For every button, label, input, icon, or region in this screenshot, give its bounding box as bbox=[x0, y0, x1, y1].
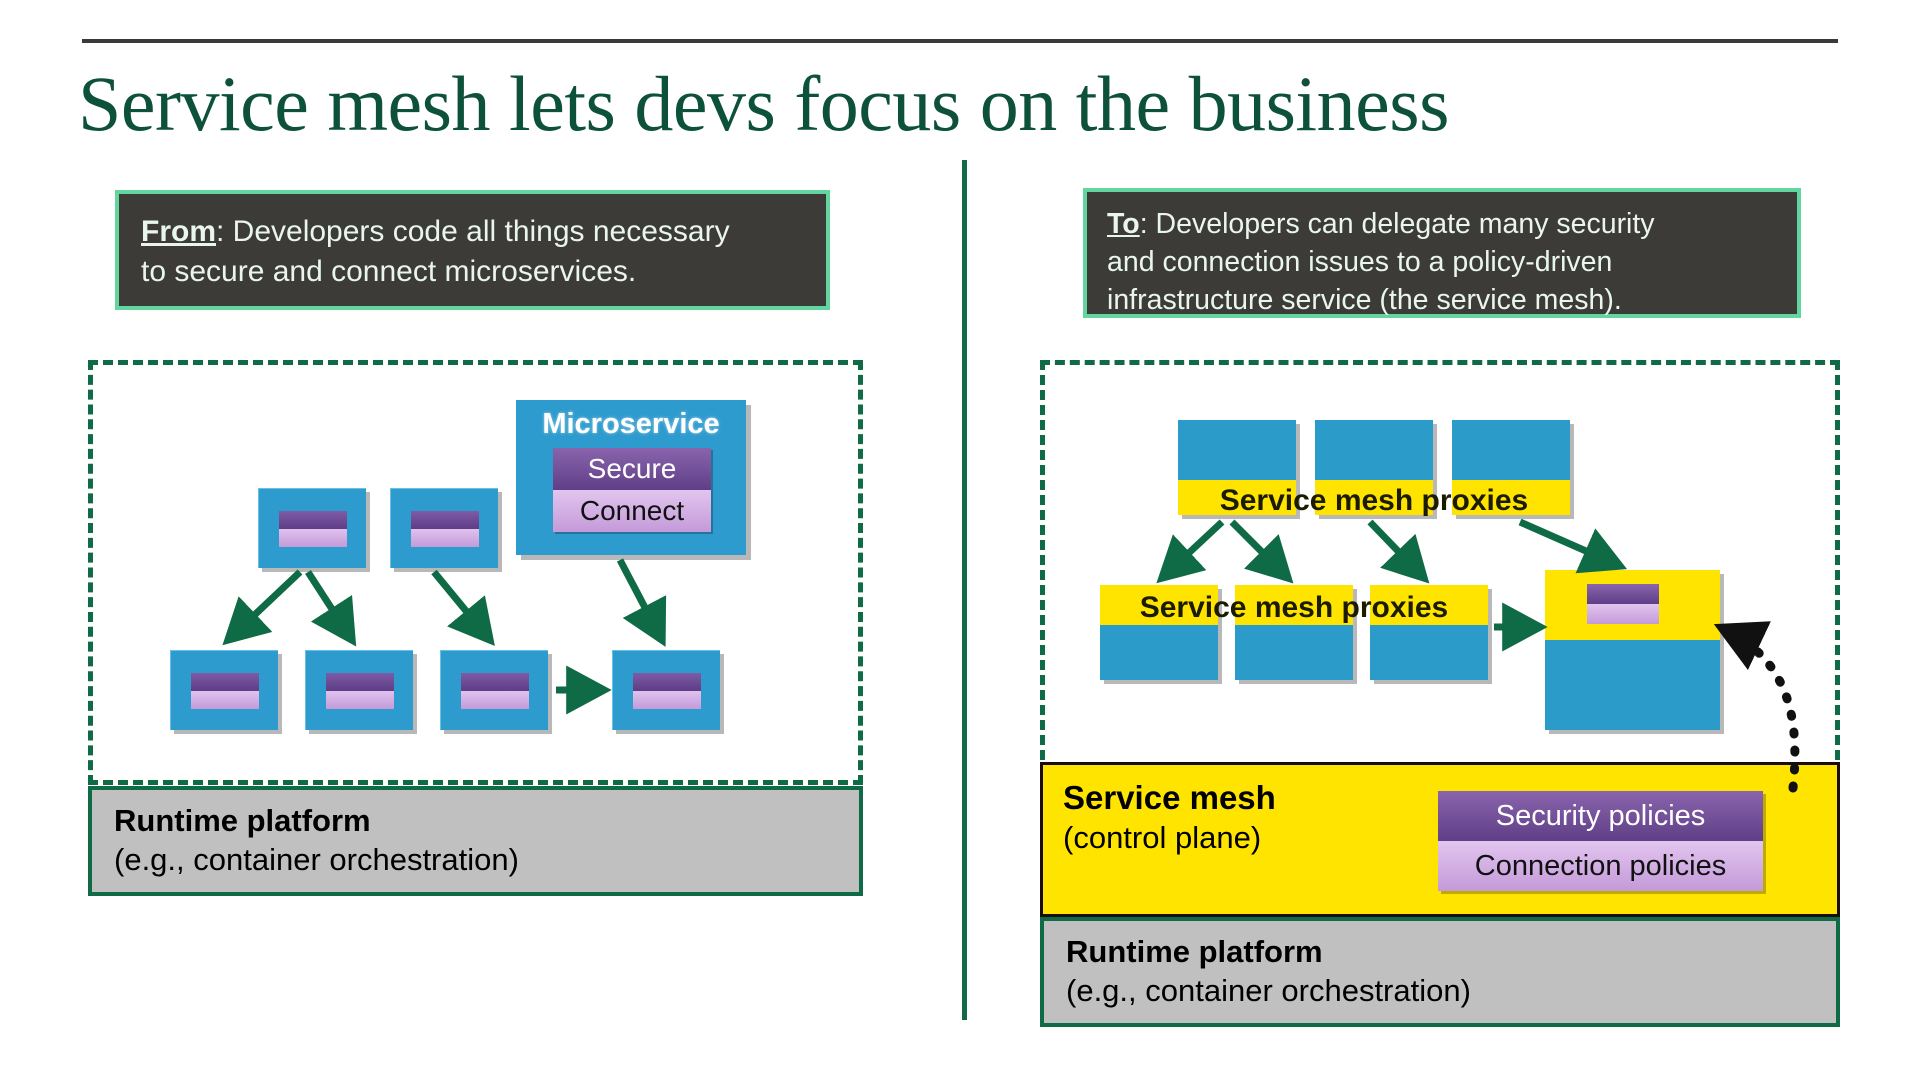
service-block bbox=[1452, 420, 1570, 480]
caption-to-lead: To bbox=[1107, 208, 1140, 240]
right-boundary-panel bbox=[1040, 360, 1840, 775]
microservice-box: Microservice Secure Connect bbox=[516, 400, 746, 555]
service-node bbox=[258, 488, 366, 568]
connection-policies-block: Connection policies bbox=[1438, 841, 1763, 891]
service-block bbox=[1315, 420, 1433, 480]
secure-bar-icon bbox=[326, 673, 394, 691]
runtime-right-title: Runtime platform bbox=[1066, 933, 1836, 971]
microservice-connect-block: Connect bbox=[553, 490, 711, 532]
service-node bbox=[170, 650, 278, 730]
connect-bar-icon bbox=[1587, 604, 1659, 624]
service-node bbox=[440, 650, 548, 730]
connect-bar-icon bbox=[461, 691, 529, 709]
service-mesh-title: Service mesh bbox=[1063, 779, 1276, 817]
runtime-left-title: Runtime platform bbox=[114, 802, 859, 840]
slide-canvas: Service mesh lets devs focus on the busi… bbox=[0, 0, 1920, 1080]
service-node bbox=[390, 488, 498, 568]
caption-to-line-2: and connection issues to a policy-driven bbox=[1107, 243, 1797, 281]
caption-to-text-1: : Developers can delegate many security bbox=[1140, 208, 1655, 240]
caption-from-text-1: : Developers code all things necessary bbox=[216, 215, 730, 248]
service-mesh-control-plane: Service mesh (control plane) Security po… bbox=[1040, 762, 1840, 917]
runtime-right-subtitle: (e.g., container orchestration) bbox=[1066, 971, 1836, 1011]
service-block bbox=[1370, 625, 1488, 680]
security-policies-block: Security policies bbox=[1438, 791, 1763, 841]
connect-bar-icon bbox=[326, 691, 394, 709]
connect-bar-icon bbox=[633, 691, 701, 709]
service-block bbox=[1235, 625, 1353, 680]
secure-bar-icon bbox=[411, 511, 479, 529]
secure-bar-icon bbox=[279, 511, 347, 529]
caption-from-line-1: From: Developers code all things necessa… bbox=[141, 212, 826, 252]
secure-bar-icon bbox=[633, 673, 701, 691]
microservice-title: Microservice bbox=[516, 408, 746, 441]
header-rule bbox=[82, 39, 1838, 43]
proxies-top-label: Service mesh proxies bbox=[1178, 484, 1570, 518]
proxies-bottom-label: Service mesh proxies bbox=[1100, 591, 1488, 625]
caption-to: To: Developers can delegate many securit… bbox=[1083, 188, 1801, 318]
caption-to-line-1: To: Developers can delegate many securit… bbox=[1107, 205, 1797, 243]
service-block bbox=[1545, 640, 1720, 730]
service-block bbox=[1178, 420, 1296, 480]
page-title: Service mesh lets devs focus on the busi… bbox=[78, 62, 1778, 146]
column-divider bbox=[962, 160, 967, 1020]
connect-bar-icon bbox=[279, 529, 347, 547]
service-mesh-subtitle: (control plane) bbox=[1063, 819, 1261, 857]
connect-bar-icon bbox=[191, 691, 259, 709]
secure-bar-icon bbox=[1587, 584, 1659, 604]
service-node bbox=[612, 650, 720, 730]
secure-bar-icon bbox=[461, 673, 529, 691]
service-block bbox=[1100, 625, 1218, 680]
target-service-node bbox=[1545, 570, 1720, 730]
runtime-platform-left: Runtime platform (e.g., container orches… bbox=[88, 786, 863, 896]
caption-from-line-2: to secure and connect microservices. bbox=[141, 252, 826, 292]
secure-bar-icon bbox=[191, 673, 259, 691]
runtime-platform-right: Runtime platform (e.g., container orches… bbox=[1040, 917, 1840, 1027]
caption-from-lead: From bbox=[141, 215, 216, 248]
caption-from: From: Developers code all things necessa… bbox=[115, 190, 830, 310]
connect-bar-icon bbox=[411, 529, 479, 547]
microservice-secure-block: Secure bbox=[553, 448, 711, 490]
service-node bbox=[305, 650, 413, 730]
runtime-left-subtitle: (e.g., container orchestration) bbox=[114, 840, 859, 880]
caption-to-line-3: infrastructure service (the service mesh… bbox=[1107, 281, 1797, 319]
